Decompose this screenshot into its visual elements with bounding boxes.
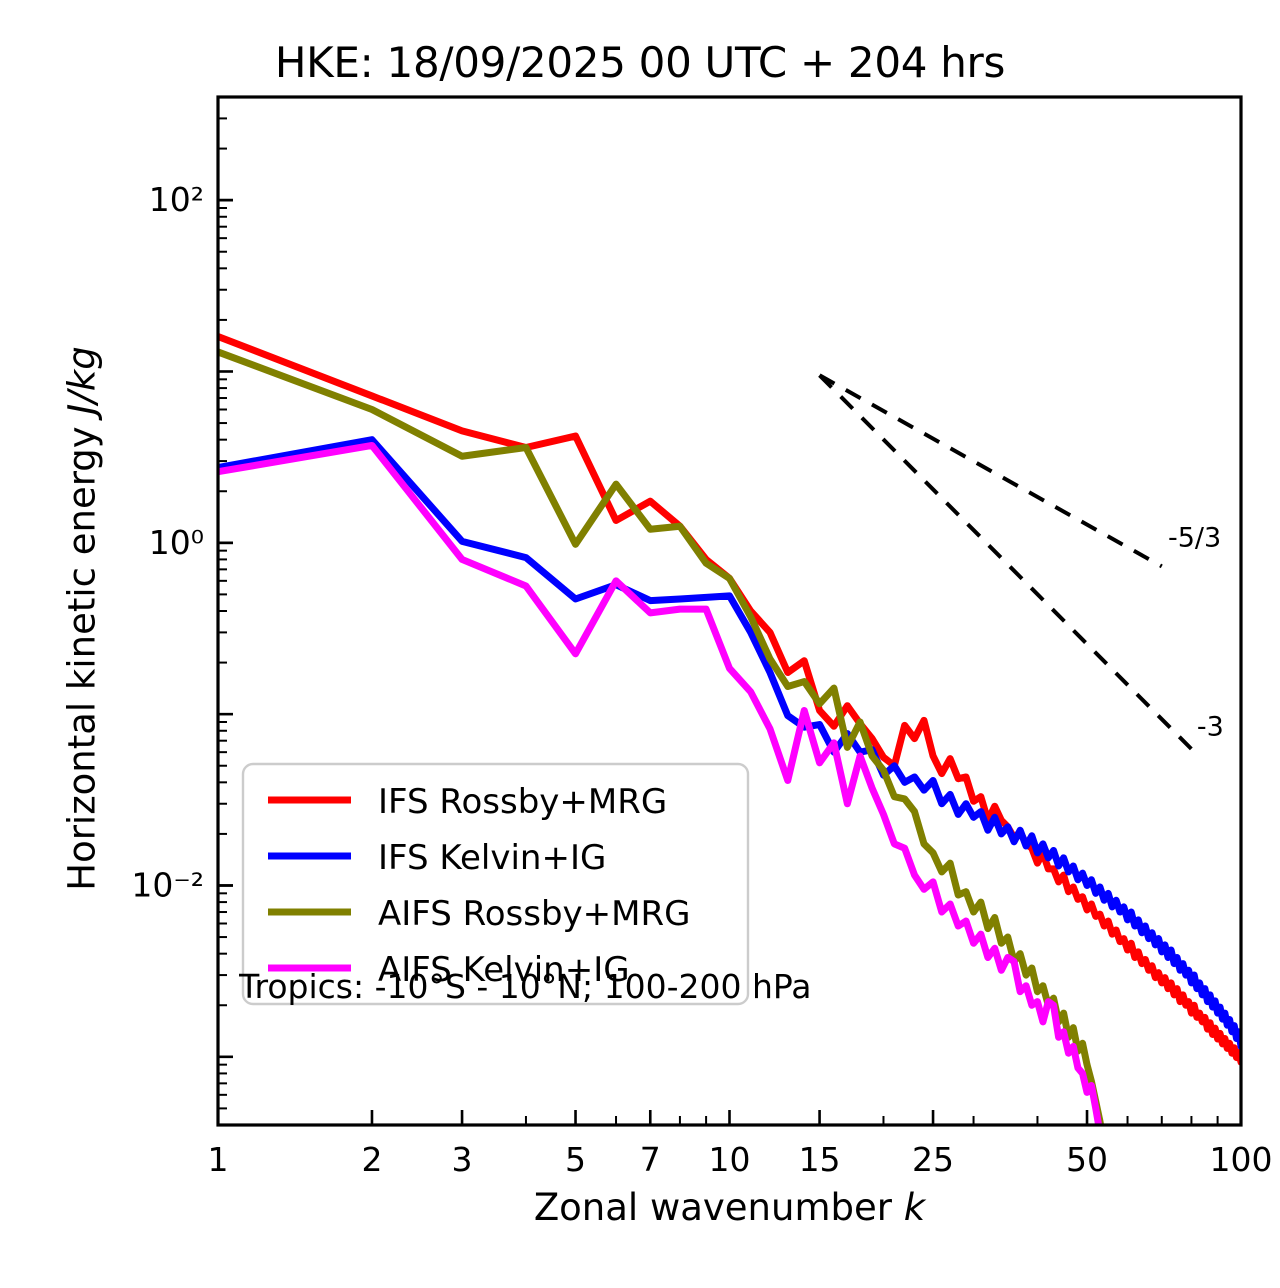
- x-tick-label: 3: [452, 1140, 473, 1179]
- slope-label: -3: [1197, 712, 1224, 743]
- x-tick-label: 7: [640, 1140, 661, 1179]
- x-tick-label: 5: [565, 1140, 586, 1179]
- figure-canvas: HKE: 18/09/2025 00 UTC + 204 hrs Horizon…: [0, 0, 1280, 1288]
- x-tick-label: 15: [799, 1140, 841, 1179]
- y-tick-label: 10⁻²: [131, 865, 204, 904]
- slope-label: -5/3: [1168, 523, 1221, 554]
- slope-reference-line-53: [820, 375, 1162, 566]
- region-annotation: Tropics: -10°S - 10°N; 100-200 hPa: [238, 967, 811, 1006]
- y-tick-label: 10²: [149, 180, 204, 219]
- y-tick-label: 10⁰: [149, 523, 204, 562]
- legend-label-ifs-kelvin-ig: IFS Kelvin+IG: [378, 838, 606, 878]
- x-tick-label: 25: [912, 1140, 954, 1179]
- legend-label-aifs-rossby-mrg: AIFS Rossby+MRG: [378, 894, 690, 934]
- x-tick-label: 10: [709, 1140, 751, 1179]
- x-tick-label: 1: [208, 1140, 229, 1179]
- legend-label-ifs-rossby-mrg: IFS Rossby+MRG: [378, 782, 667, 822]
- x-tick-label: 2: [361, 1140, 382, 1179]
- x-tick-label: 50: [1066, 1140, 1108, 1179]
- reference-slope-group: -5/3-3: [820, 375, 1224, 749]
- x-tick-label: 100: [1210, 1140, 1273, 1179]
- slope-reference-line-3: [820, 375, 1192, 749]
- x-tick-group: 1235710152550100: [208, 1110, 1273, 1179]
- plot-area: 10⁻²10⁰10² 1235710152550100 -5/3-3 IFS R…: [0, 0, 1280, 1288]
